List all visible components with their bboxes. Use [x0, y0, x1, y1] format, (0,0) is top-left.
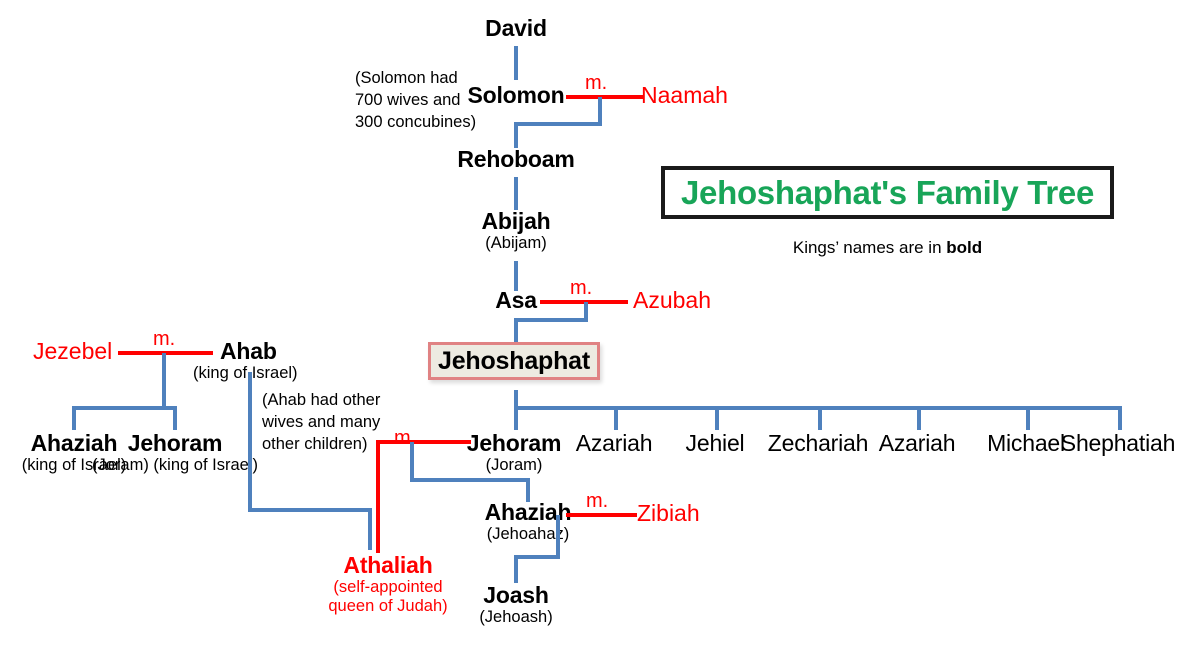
connector-child-drop-2 [614, 406, 618, 430]
person-naamah: Naamah [641, 83, 728, 108]
person-name: Athaliah [288, 553, 488, 578]
sibling-bar-ahab-sons [72, 406, 177, 410]
connector-ahaziah-down [556, 515, 560, 559]
person-name: Shephatiah [1018, 431, 1200, 456]
connector-rehoboam-abijah [514, 177, 518, 210]
connector-down-rehoboam [514, 122, 518, 148]
person-name: Jehoshaphat [438, 347, 590, 376]
person-jehoram-israel: Jehoram (Joram) (king of Israel) [75, 431, 275, 475]
connector-son-drop-ahaziah-israel [72, 406, 76, 430]
person-shephatiah: Shephatiah [1018, 431, 1200, 456]
person-name: Abijah [416, 209, 616, 234]
connector-down-jehoshaphat [514, 318, 518, 342]
connector-asa-across [514, 318, 588, 322]
connector-child-drop-4 [818, 406, 822, 430]
connector-david-solomon [514, 46, 518, 80]
connector-ahab-to-athaliah-down [248, 372, 252, 512]
connector-jehoram-down [410, 442, 414, 482]
person-name: Jehoram [75, 431, 275, 456]
connector-ahab-to-athaliah-drop [368, 508, 372, 550]
person-name: Rehoboam [416, 147, 616, 172]
person-alt-name: (Joram) (king of Israel) [75, 456, 275, 475]
person-alt-name: (Jehoahaz) [428, 525, 628, 544]
connector-child-drop-3 [715, 406, 719, 430]
person-zibiah: Zibiah [637, 501, 700, 526]
connector-child-drop-5 [917, 406, 921, 430]
person-david: David [416, 16, 616, 41]
person-alt-name: (Jehoash) [416, 608, 616, 627]
marriage-label-solomon-naamah: m. [585, 72, 607, 95]
person-abijah: Abijah (Abijam) [416, 209, 616, 253]
person-azubah: Azubah [633, 288, 711, 313]
marriage-line-jehoram-athaliah [376, 440, 471, 444]
person-jezebel: Jezebel [33, 339, 112, 364]
connector-ahab-down [162, 353, 166, 408]
person-alt-name: (Abijam) [416, 234, 616, 253]
legend-prefix: Kings’ names are in [793, 238, 946, 257]
marriage-line-solomon-naamah [566, 95, 644, 99]
marriage-drop-athaliah [376, 440, 380, 553]
person-joash: Joash (Jehoash) [416, 583, 616, 627]
connector-child-drop-1 [514, 406, 518, 430]
person-jehoshaphat-highlight[interactable]: Jehoshaphat [428, 342, 600, 380]
person-name: David [416, 16, 616, 41]
page-title: Jehoshaphat's Family Tree [681, 174, 1094, 212]
marriage-label-ahaziah-zibiah: m. [586, 490, 608, 513]
connector-solomon-across [514, 122, 602, 126]
legend-bold-word: bold [946, 238, 982, 257]
connector-son-drop-jehoram-israel [173, 406, 177, 430]
connector-child-drop-6 [1026, 406, 1030, 430]
marriage-line-ahaziah-zibiah [566, 513, 637, 517]
legend-kings-bold: Kings’ names are in bold [661, 238, 1114, 258]
connector-ahab-to-athaliah-across [248, 508, 372, 512]
person-name: Joash [416, 583, 616, 608]
connector-down-joash [514, 555, 518, 583]
person-rehoboam: Rehoboam [416, 147, 616, 172]
connector-ahaziah-across [514, 555, 560, 559]
note-ahab-children: (Ahab had other wives and many other chi… [262, 390, 402, 455]
connector-child-drop-7 [1118, 406, 1122, 430]
family-tree-diagram: Jehoshaphat's Family Tree Kings’ names a… [0, 0, 1200, 650]
title-box: Jehoshaphat's Family Tree [661, 166, 1114, 219]
connector-jehoram-across [410, 478, 530, 482]
marriage-label-asa-azubah: m. [570, 277, 592, 300]
person-alt-name: (Joram) [414, 456, 614, 475]
